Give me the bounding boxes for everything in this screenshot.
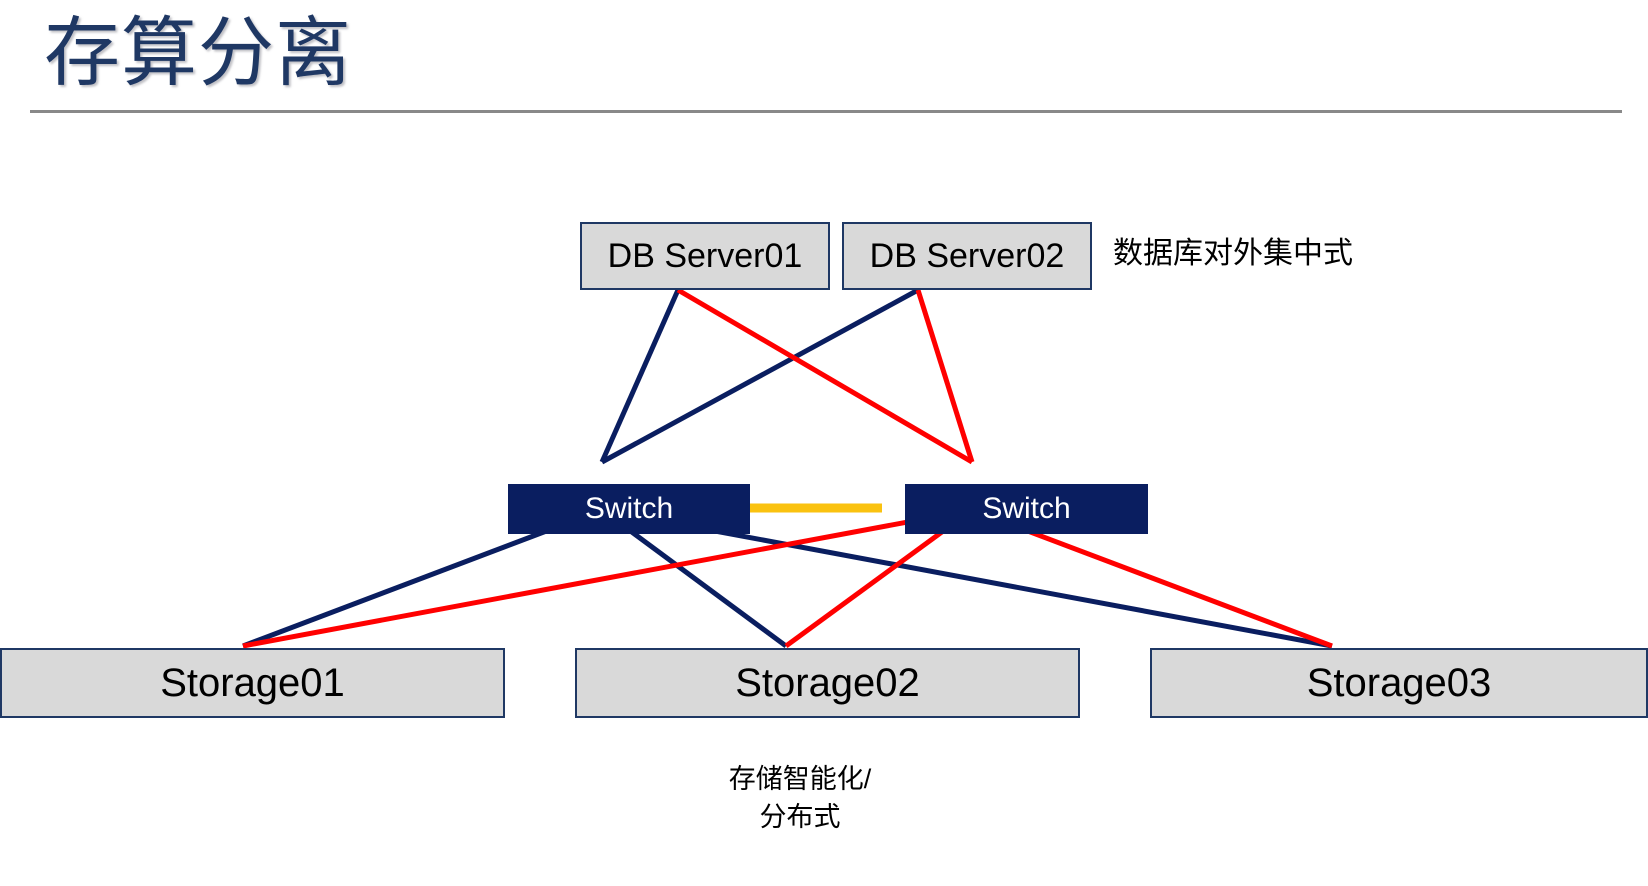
annotation-storage-caption: 存储智能化/ 分布式 bbox=[650, 760, 950, 836]
node-db-server-01[interactable]: DB Server01 bbox=[580, 222, 830, 290]
annotation-centralized-db: 数据库对外集中式 bbox=[1113, 228, 1353, 272]
slide-canvas: 存算分离 DB Server01 DB Server02 Switch Swit… bbox=[0, 0, 1648, 886]
node-db-server-02[interactable]: DB Server02 bbox=[842, 222, 1092, 290]
node-storage-01[interactable]: Storage01 bbox=[0, 648, 505, 718]
annotation-storage-caption-line1: 存储智能化/ bbox=[650, 760, 950, 798]
node-switch-left[interactable]: Switch bbox=[508, 484, 750, 534]
annotation-storage-caption-line2: 分布式 bbox=[650, 798, 950, 836]
connection-lines bbox=[0, 0, 1648, 886]
node-storage-03[interactable]: Storage03 bbox=[1150, 648, 1648, 718]
node-storage-02[interactable]: Storage02 bbox=[575, 648, 1080, 718]
wire-db02-to-switch-left bbox=[602, 290, 918, 462]
node-switch-right[interactable]: Switch bbox=[905, 484, 1148, 534]
wire-db01-to-switch-left bbox=[602, 290, 678, 462]
